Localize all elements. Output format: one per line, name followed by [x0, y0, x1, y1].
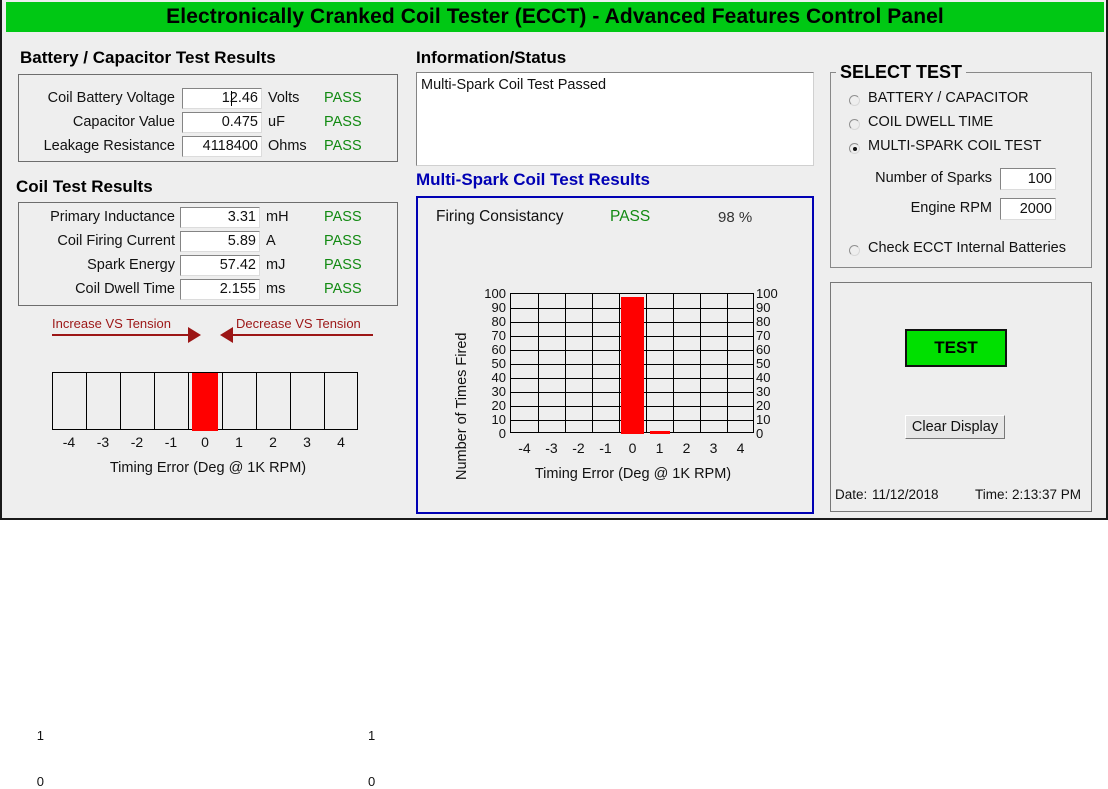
decrease-vs-tension-label: Decrease VS Tension [236, 316, 361, 331]
left-chart-ytick-1: 1 [18, 728, 44, 743]
ms-chart-right-ytick-80: 80 [756, 314, 796, 329]
left-chart-xtick-0: -4 [56, 434, 82, 450]
left-chart-bar-0deg [192, 373, 218, 431]
radio-battery-capacitor[interactable] [849, 95, 860, 106]
spark-energy-label: Spark Energy [30, 257, 175, 273]
left-chart-xtick-6: 2 [260, 434, 286, 450]
ms-chart-bar-1deg [650, 431, 670, 434]
multi-spark-timing-error-chart: Number of Times Fired 100 90 80 70 60 50… [418, 258, 816, 508]
left-chart-right-ytick-0: 0 [368, 774, 394, 789]
ms-chart-xtick-7: 3 [700, 440, 727, 456]
primary-inductance-label: Primary Inductance [30, 209, 175, 225]
radio-coil-dwell-time-label[interactable]: COIL DWELL TIME [868, 114, 993, 130]
left-chart-xtick-4: 0 [192, 434, 218, 450]
time-label: Time: [975, 487, 1008, 502]
multispark-heading: Multi-Spark Coil Test Results [416, 170, 650, 190]
app-title: Electronically Cranked Coil Tester (ECCT… [166, 5, 944, 29]
arrow-right-icon [188, 327, 201, 343]
coil-dwell-time-label: Coil Dwell Time [30, 281, 175, 297]
engine-rpm-label: Engine RPM [882, 200, 992, 216]
title-bar: Electronically Cranked Coil Tester (ECCT… [6, 2, 1104, 32]
firing-consistancy-label: Firing Consistancy [436, 208, 564, 226]
engine-rpm-input[interactable]: 2000 [1000, 198, 1056, 220]
application-window: Electronically Cranked Coil Tester (ECCT… [0, 0, 1108, 520]
ms-chart-ytick-60: 60 [466, 342, 506, 357]
coil-dwell-time-status: PASS [324, 281, 362, 297]
ms-chart-xtick-6: 2 [673, 440, 700, 456]
leakage-resistance-value[interactable]: 4118400 [182, 136, 262, 157]
coil-dwell-timing-error-chart: 1 0 1 0 -4 -3 -2 -1 0 1 2 3 4 Timing Err… [18, 362, 398, 482]
ms-chart-right-ytick-90: 90 [756, 300, 796, 315]
spark-energy-status: PASS [324, 257, 362, 273]
leakage-resistance-status: PASS [324, 138, 362, 154]
time-value: 2:13:37 PM [1012, 487, 1081, 502]
ms-chart-xtick-5: 1 [646, 440, 673, 456]
ms-chart-ytick-0: 0 [466, 426, 506, 441]
ms-chart-ytick-80: 80 [466, 314, 506, 329]
number-of-sparks-input[interactable]: 100 [1000, 168, 1056, 190]
ms-chart-ytick-100: 100 [466, 286, 506, 301]
test-button[interactable]: TEST [905, 329, 1007, 367]
ms-chart-xaxis-title: Timing Error (Deg @ 1K RPM) [478, 466, 788, 482]
primary-inductance-status: PASS [324, 209, 362, 225]
ms-chart-right-ytick-70: 70 [756, 328, 796, 343]
spark-energy-value[interactable]: 57.42 [180, 255, 260, 276]
left-chart-xtick-5: 1 [226, 434, 252, 450]
left-chart-xtick-7: 3 [294, 434, 320, 450]
coil-firing-current-value[interactable]: 5.89 [180, 231, 260, 252]
radio-battery-capacitor-label[interactable]: BATTERY / CAPACITOR [868, 90, 1029, 106]
ms-chart-right-ytick-60: 60 [756, 342, 796, 357]
left-chart-xtick-3: -1 [158, 434, 184, 450]
coil-battery-voltage-unit: Volts [268, 90, 299, 106]
ms-chart-xtick-2: -2 [565, 440, 592, 456]
left-chart-ytick-0: 0 [18, 774, 44, 789]
ms-chart-right-ytick-20: 20 [756, 398, 796, 413]
ms-chart-xtick-0: -4 [511, 440, 538, 456]
ms-chart-ytick-10: 10 [466, 412, 506, 427]
coil-section-heading: Coil Test Results [16, 177, 153, 197]
spark-energy-unit: mJ [266, 257, 285, 273]
ms-chart-xtick-4: 0 [619, 440, 646, 456]
left-chart-xtick-8: 4 [328, 434, 354, 450]
radio-check-ecct-internal-batteries[interactable] [849, 245, 860, 256]
capacitor-value-status: PASS [324, 114, 362, 130]
battery-section-heading: Battery / Capacitor Test Results [20, 48, 276, 68]
ms-chart-right-ytick-10: 10 [756, 412, 796, 427]
coil-firing-current-status: PASS [324, 233, 362, 249]
status-textarea[interactable]: Multi-Spark Coil Test Passed [416, 72, 814, 166]
leakage-resistance-label: Leakage Resistance [22, 138, 175, 154]
left-chart-plot-area [52, 372, 358, 430]
ms-chart-ytick-30: 30 [466, 384, 506, 399]
primary-inductance-unit: mH [266, 209, 289, 225]
date-value: 11/12/2018 [872, 487, 939, 502]
left-chart-xaxis-title: Timing Error (Deg @ 1K RPM) [18, 460, 398, 476]
ms-chart-right-ytick-100: 100 [756, 286, 796, 301]
ms-chart-right-ytick-0: 0 [756, 426, 796, 441]
action-panel [830, 282, 1092, 512]
ms-chart-ytick-90: 90 [466, 300, 506, 315]
capacitor-value-value[interactable]: 0.475 [182, 112, 262, 133]
ms-chart-right-ytick-50: 50 [756, 356, 796, 371]
coil-dwell-time-unit: ms [266, 281, 285, 297]
ms-chart-ytick-40: 40 [466, 370, 506, 385]
ms-chart-ytick-50: 50 [466, 356, 506, 371]
multispark-results-panel: Firing Consistancy PASS 98 % Number of T… [416, 196, 814, 514]
ms-chart-xtick-8: 4 [727, 440, 754, 456]
arrow-left-icon [220, 327, 233, 343]
coil-battery-voltage-value[interactable]: 12.46 [182, 88, 262, 109]
capacitor-value-unit: uF [268, 114, 285, 130]
firing-consistancy-status: PASS [610, 208, 650, 226]
ms-chart-plot-area [510, 293, 754, 433]
clear-display-button[interactable]: Clear Display [905, 415, 1005, 439]
select-test-legend: SELECT TEST [836, 62, 966, 83]
ms-chart-xtick-1: -3 [538, 440, 565, 456]
ms-chart-right-ytick-30: 30 [756, 384, 796, 399]
left-chart-xtick-1: -3 [90, 434, 116, 450]
information-heading: Information/Status [416, 48, 566, 68]
increase-vs-tension-label: Increase VS Tension [52, 316, 171, 331]
radio-check-ecct-internal-batteries-label[interactable]: Check ECCT Internal Batteries [868, 240, 1066, 256]
capacitor-value-label: Capacitor Value [30, 114, 175, 130]
ms-chart-ytick-20: 20 [466, 398, 506, 413]
radio-multi-spark-coil-test[interactable] [849, 143, 860, 154]
primary-inductance-value[interactable]: 3.31 [180, 207, 260, 228]
coil-battery-voltage-label: Coil Battery Voltage [30, 90, 175, 106]
coil-firing-current-label: Coil Firing Current [30, 233, 175, 249]
date-label: Date: [835, 487, 867, 502]
ms-chart-bar-0deg [621, 297, 644, 434]
left-chart-xtick-2: -2 [124, 434, 150, 450]
coil-dwell-time-value[interactable]: 2.155 [180, 279, 260, 300]
coil-battery-voltage-status: PASS [324, 90, 362, 106]
ms-chart-xtick-3: -1 [592, 440, 619, 456]
left-chart-right-ytick-1: 1 [368, 728, 394, 743]
radio-coil-dwell-time[interactable] [849, 119, 860, 130]
firing-consistancy-percent: 98 % [718, 209, 752, 226]
ms-chart-ytick-70: 70 [466, 328, 506, 343]
coil-firing-current-unit: A [266, 233, 276, 249]
decrease-arrow-shaft [233, 334, 373, 336]
increase-arrow-shaft [52, 334, 192, 336]
number-of-sparks-label: Number of Sparks [862, 170, 992, 186]
radio-multi-spark-coil-test-label[interactable]: MULTI-SPARK COIL TEST [868, 138, 1042, 154]
ms-chart-right-ytick-40: 40 [756, 370, 796, 385]
leakage-resistance-unit: Ohms [268, 138, 307, 154]
